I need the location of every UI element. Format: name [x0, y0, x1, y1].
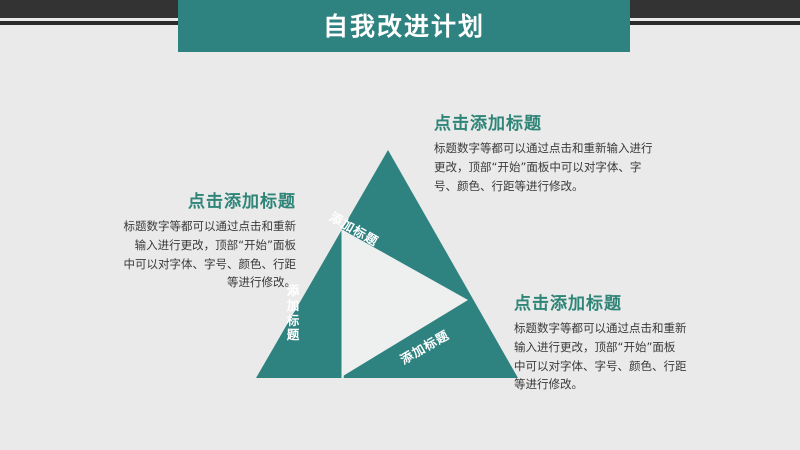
- slide-title-box: 自我改进计划: [178, 0, 630, 52]
- page-title: 自我改进计划: [323, 14, 485, 39]
- text-block-bottom-right-heading[interactable]: 点击添加标题: [514, 294, 766, 314]
- text-line: 更改，顶部“开始”面板中可以对字体、字: [434, 158, 696, 177]
- text-block-left-heading[interactable]: 点击添加标题: [70, 192, 296, 212]
- text-block-left-body[interactable]: 标题数字等都可以通过点击和重新 输入进行更改，顶部“开始”面板 中可以对字体、字…: [70, 217, 296, 292]
- text-block-bottom-right: 点击添加标题 标题数字等都可以通过点击和重新 输入进行更改，顶部“开始”面板 中…: [514, 294, 766, 394]
- text-line: 中可以对字体、字号、颜色、行距: [70, 255, 296, 274]
- text-line: 标题数字等都可以通过点击和重新输入进行: [434, 139, 696, 158]
- text-block-top-right-body[interactable]: 标题数字等都可以通过点击和重新输入进行 更改，顶部“开始”面板中可以对字体、字 …: [434, 139, 696, 195]
- text-block-top-right-heading[interactable]: 点击添加标题: [434, 114, 696, 134]
- text-block-top-right: 点击添加标题 标题数字等都可以通过点击和重新输入进行 更改，顶部“开始”面板中可…: [434, 114, 696, 195]
- text-line: 等进行修改。: [514, 375, 766, 394]
- text-block-left: 点击添加标题 标题数字等都可以通过点击和重新 输入进行更改，顶部“开始”面板 中…: [70, 192, 296, 292]
- triangle-band-label-left[interactable]: 添加标题: [286, 284, 301, 343]
- text-line: 等进行修改。: [70, 273, 296, 292]
- text-line: 标题数字等都可以通过点击和重新: [70, 217, 296, 236]
- text-line: 号、颜色、行距等进行修改。: [434, 177, 696, 196]
- text-line: 标题数字等都可以通过点击和重新: [514, 319, 766, 338]
- text-line: 输入进行更改，顶部“开始”面板: [70, 236, 296, 255]
- text-line: 中可以对字体、字号、颜色、行距: [514, 357, 766, 376]
- inner-left-separator: [342, 230, 344, 378]
- slide-canvas: 自我改进计划 添加标题 添加标题 添加标题 点击添加标题 标题数字等都可以通过点…: [0, 0, 800, 450]
- text-block-bottom-right-body[interactable]: 标题数字等都可以通过点击和重新 输入进行更改，顶部“开始”面板 中可以对字体、字…: [514, 319, 766, 394]
- text-line: 输入进行更改，顶部“开始”面板: [514, 338, 766, 357]
